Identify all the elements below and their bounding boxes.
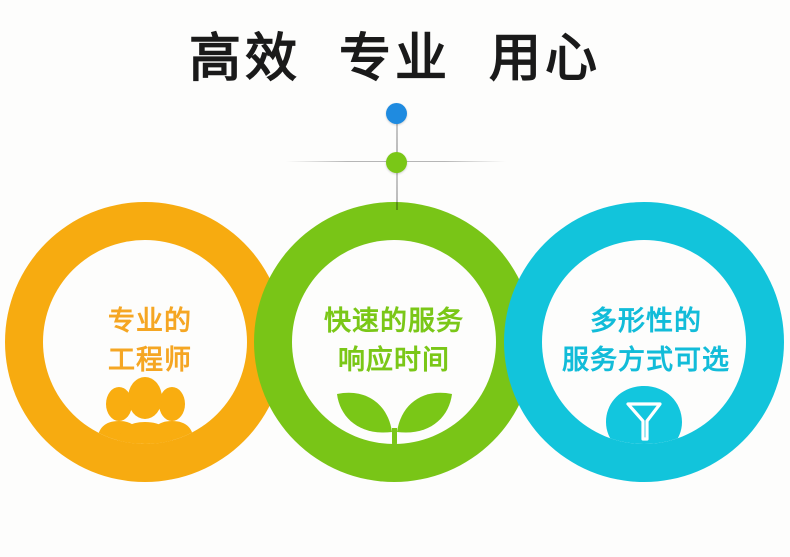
infographic-canvas: 高效专业用心: [0, 0, 790, 557]
venn-rings-group: [0, 0, 790, 557]
ring-service-options: [498, 190, 790, 500]
